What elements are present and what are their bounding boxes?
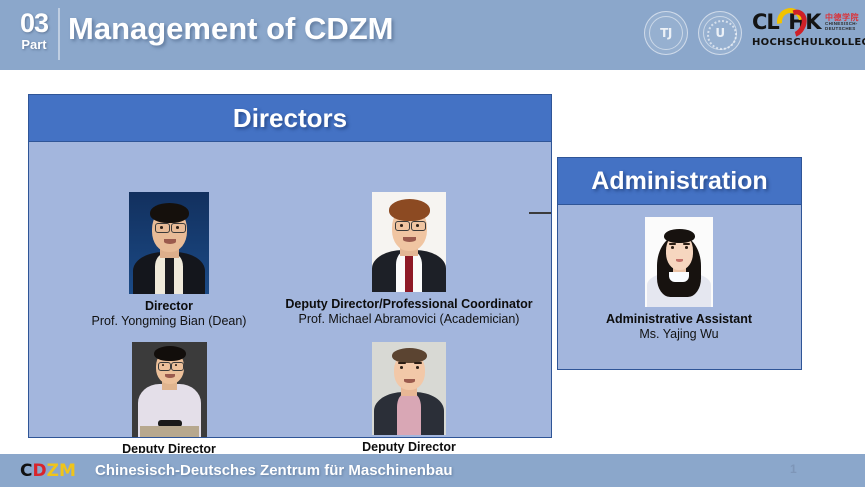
person-card-deputy-christopher-ehrmann: Deputy Director Assi. Prof. Christopher …	[273, 342, 545, 470]
portrait-wei-ye	[132, 342, 207, 437]
directors-panel-body: Director Prof. Yongming Bian (Dean) Depu…	[29, 142, 551, 436]
directors-panel-title: Directors	[29, 95, 551, 142]
clhk-hochschulkolleg-text: HOCHSCHULKOLLEG	[752, 37, 865, 48]
person-card-deputy-coordinator: Deputy Director/Professional Coordinator…	[273, 192, 545, 327]
logo-group: TJ U CL HK 中德学院 CHINESISCH-DEUTSCHES HOC…	[644, 7, 858, 59]
connector-line	[529, 212, 551, 214]
clhk-swoosh-icon	[777, 8, 790, 32]
cdzm-letter-c: C	[20, 461, 32, 481]
person-role: Deputy Director/Professional Coordinator	[273, 297, 545, 312]
page-number: 1	[790, 462, 797, 476]
person-name: Ms. Yajing Wu	[558, 327, 800, 342]
cdzm-letter-m: M	[59, 461, 76, 481]
page-title: Management of CDZM	[68, 11, 394, 47]
university-gear-seal-icon: U	[698, 11, 742, 55]
directors-panel: Directors Director Prof. Yongming Bian (…	[28, 94, 552, 438]
cdzm-letter-d: D	[32, 461, 46, 481]
footer-subtitle: Chinesisch-Deutsches Zentrum für Maschin…	[95, 462, 453, 479]
person-name: Prof. Yongming Bian (Dean)	[61, 314, 277, 329]
slide-footer: CDZM Chinesisch-Deutsches Zentrum für Ma…	[0, 453, 865, 487]
portrait-yajing-wu	[645, 217, 713, 307]
cdzm-wordmark: CDZM	[20, 461, 76, 481]
part-label: Part	[12, 38, 56, 51]
portrait-yongming-bian	[129, 192, 209, 294]
person-card-director: Director Prof. Yongming Bian (Dean)	[61, 192, 277, 329]
administration-panel-title: Administration	[558, 158, 801, 205]
cdzm-letter-z: Z	[47, 461, 59, 481]
gear-seal-text: U	[715, 26, 724, 40]
person-card-administrative-assistant: Administrative Assistant Ms. Yajing Wu	[558, 217, 800, 342]
tongji-seal-text: TJ	[660, 26, 672, 40]
clhk-cl-text: CL	[752, 12, 779, 33]
portrait-michael-abramovici	[372, 192, 446, 292]
clhk-logo-icon: CL HK 中德学院 CHINESISCH-DEUTSCHES HOCHSCHU…	[752, 10, 858, 56]
tongji-university-seal-icon: TJ	[644, 11, 688, 55]
administration-panel-body: Administrative Assistant Ms. Yajing Wu	[558, 205, 801, 368]
person-role: Administrative Assistant	[558, 312, 800, 327]
header-divider	[58, 8, 60, 60]
person-role: Director	[61, 299, 277, 314]
part-badge: 03 Part	[12, 6, 56, 62]
portrait-christopher-ehrmann	[372, 342, 446, 435]
slide-header-band: 03 Part Management of CDZM TJ U CL HK 中德…	[0, 0, 865, 70]
part-number: 03	[12, 10, 56, 37]
administration-panel: Administration Administrative Assistant …	[557, 157, 802, 370]
person-name: Prof. Michael Abramovici (Academician)	[273, 312, 545, 327]
clhk-german-small-text: CHINESISCH-DEUTSCHES	[825, 22, 865, 31]
